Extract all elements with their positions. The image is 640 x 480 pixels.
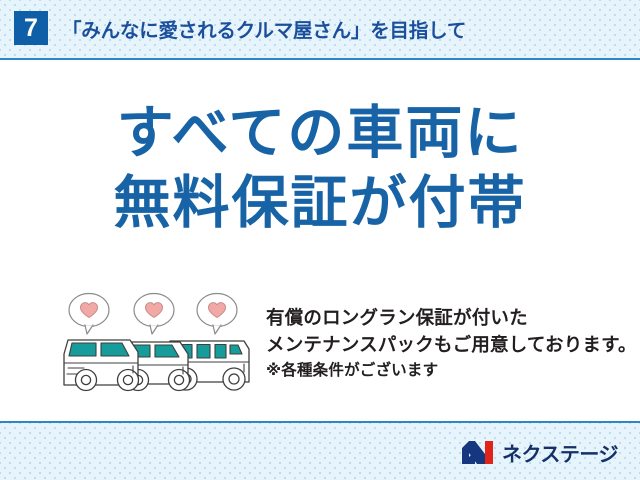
headline-line-1: すべての車両に (0, 98, 640, 168)
body-note: ※各種条件がございます (266, 358, 640, 384)
body-line-2: メンテナンスパックもご用意しております。 (266, 331, 640, 358)
promo-slide: 7 「みんなに愛されるクルマ屋さん」を目指して すべての車両に 無料保証が付帯 (0, 0, 640, 480)
brand-logo: ネクステージ (461, 437, 618, 467)
heart-bubble-1 (69, 294, 109, 335)
page-title: すべての車両に 無料保証が付帯 (0, 98, 640, 238)
header: 7 「みんなに愛されるクルマ屋さん」を目指して (0, 0, 640, 56)
content-row: 有償のロングラン保証が付いた メンテナンスパックもご用意しております。 ※各種条… (0, 292, 640, 402)
heart-bubble-3 (197, 294, 237, 335)
headline-line-2: 無料保証が付帯 (0, 168, 640, 238)
heart-bubble-2 (134, 294, 174, 335)
brand-name: ネクステージ (502, 438, 618, 467)
car-kei-wagon (64, 340, 139, 391)
section-number-badge: 7 (14, 11, 48, 45)
nextage-n-mark-icon (461, 440, 495, 465)
cars-illustration (58, 292, 254, 396)
body-text-block: 有償のロングラン保証が付いた メンテナンスパックもご用意しております。 ※各種条… (266, 292, 640, 384)
header-title: 「みんなに愛されるクルマ屋さん」を目指して (62, 14, 466, 43)
body-line-1: 有償のロングラン保証が付いた (266, 304, 640, 331)
